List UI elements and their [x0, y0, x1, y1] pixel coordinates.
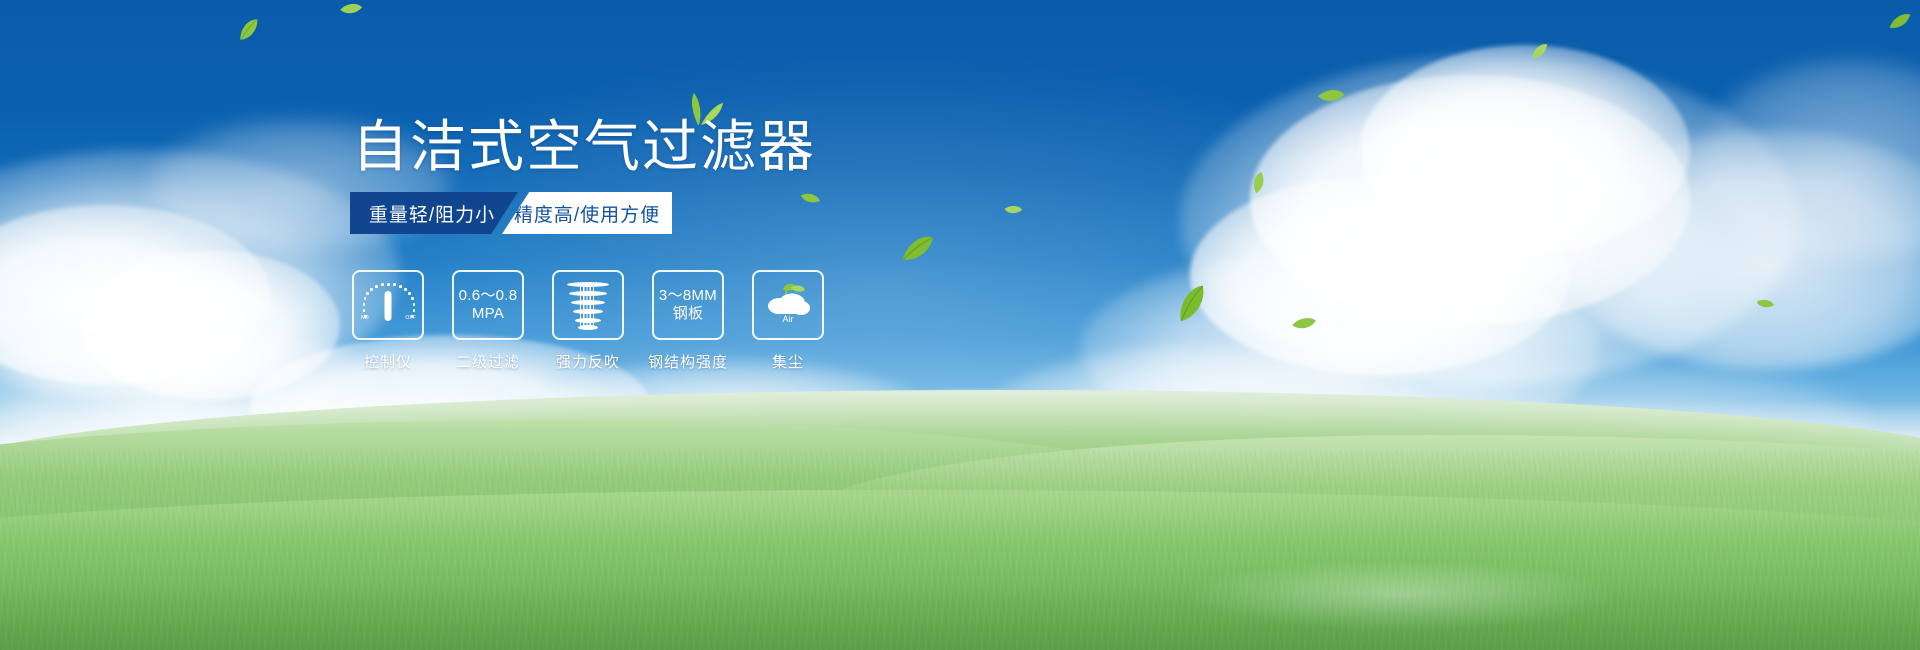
tag-weight-resistance[interactable]: 重量轻/阻力小: [350, 192, 518, 234]
feature-box: NO OFF: [352, 270, 424, 340]
feature-item-backblow[interactable]: 强力反吹: [552, 270, 624, 372]
feature-label: 钢结构强度: [648, 351, 728, 372]
feature-label: 二级过滤: [456, 351, 520, 372]
pressure-text: 0.6～0.8 MPA: [459, 287, 518, 323]
feature-label: 集尘: [772, 351, 804, 372]
feature-label: 控制仪: [364, 351, 412, 372]
feature-label: 强力反吹: [556, 351, 620, 372]
product-banner: 自洁式空气过滤器 重量轻/阻力小 精度高/使用方便: [0, 0, 1920, 650]
feature-item-dust[interactable]: Air 集尘: [752, 270, 824, 372]
feature-item-controller[interactable]: NO OFF 控制仪: [352, 270, 424, 372]
feature-list: NO OFF 控制仪 0.6～0.8 MPA 二级过滤: [352, 270, 824, 372]
feature-item-steel[interactable]: 3～8MM 钢板 钢结构强度: [652, 270, 724, 372]
tag-group: 重量轻/阻力小 精度高/使用方便: [350, 192, 672, 234]
gauge-label-off: OFF: [405, 315, 416, 321]
air-label: Air: [783, 314, 794, 324]
feature-box: 0.6～0.8 MPA: [452, 270, 524, 340]
air-cloud-icon: Air: [761, 283, 815, 327]
gauge-icon: NO OFF: [362, 282, 414, 328]
feature-box: [552, 270, 624, 340]
gauge-label-no: NO: [361, 315, 369, 321]
coil-filter-icon: [566, 280, 610, 330]
feature-box: 3～8MM 钢板: [652, 270, 724, 340]
tag-precision-convenience[interactable]: 精度高/使用方便: [502, 192, 672, 234]
page-title: 自洁式空气过滤器: [352, 117, 816, 177]
feature-item-pressure[interactable]: 0.6～0.8 MPA 二级过滤: [452, 270, 524, 372]
gauge-needle: [385, 291, 392, 321]
feature-box: Air: [752, 270, 824, 340]
banner-content: 自洁式空气过滤器 重量轻/阻力小 精度高/使用方便: [0, 0, 1920, 650]
steel-plate-text: 3～8MM 钢板: [659, 287, 717, 323]
